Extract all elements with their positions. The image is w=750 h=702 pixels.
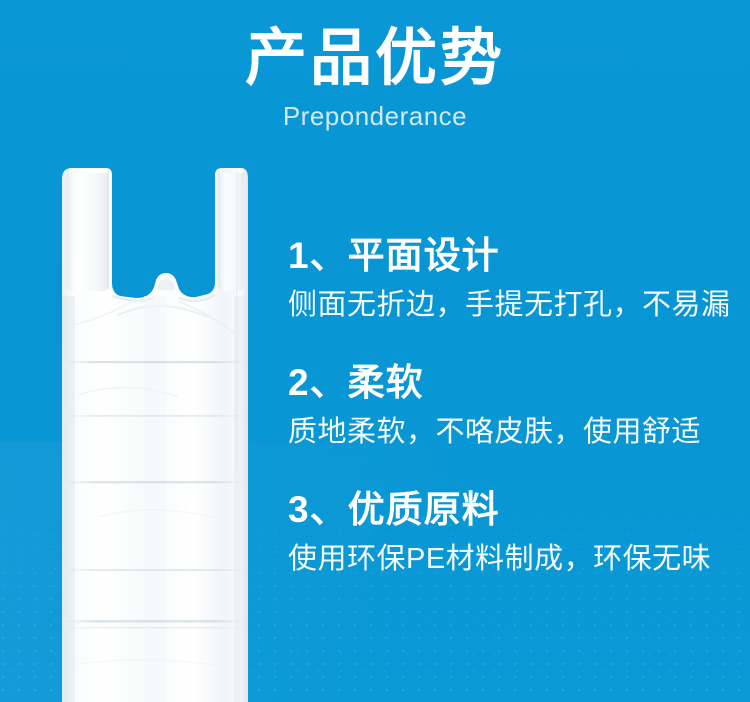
feature-heading: 3、优质原料 [288, 486, 740, 534]
feature-heading: 1、平面设计 [288, 232, 740, 280]
feature-description: 质地柔软，不咯皮肤，使用舒适 [288, 407, 740, 452]
feature-heading: 2、柔软 [288, 359, 740, 407]
product-advantages-poster: 产品优势 Preponderance [0, 0, 750, 702]
page-subtitle: Preponderance [0, 95, 750, 129]
feature-description: 使用环保PE材料制成，环保无味 [288, 534, 740, 579]
feature-list: 1、平面设计 侧面无折边，手提无打孔，不易漏 2、柔软 质地柔软，不咯皮肤，使用… [288, 232, 740, 578]
feature-description: 侧面无折边，手提无打孔，不易漏 [288, 280, 740, 325]
feature-item-2: 2、柔软 质地柔软，不咯皮肤，使用舒适 [288, 359, 740, 452]
product-image-plastic-bag [58, 165, 251, 702]
page-title: 产品优势 [0, 0, 750, 95]
feature-item-3: 3、优质原料 使用环保PE材料制成，环保无味 [288, 486, 740, 579]
feature-item-1: 1、平面设计 侧面无折边，手提无打孔，不易漏 [288, 232, 740, 325]
poster-header: 产品优势 Preponderance [0, 0, 750, 129]
